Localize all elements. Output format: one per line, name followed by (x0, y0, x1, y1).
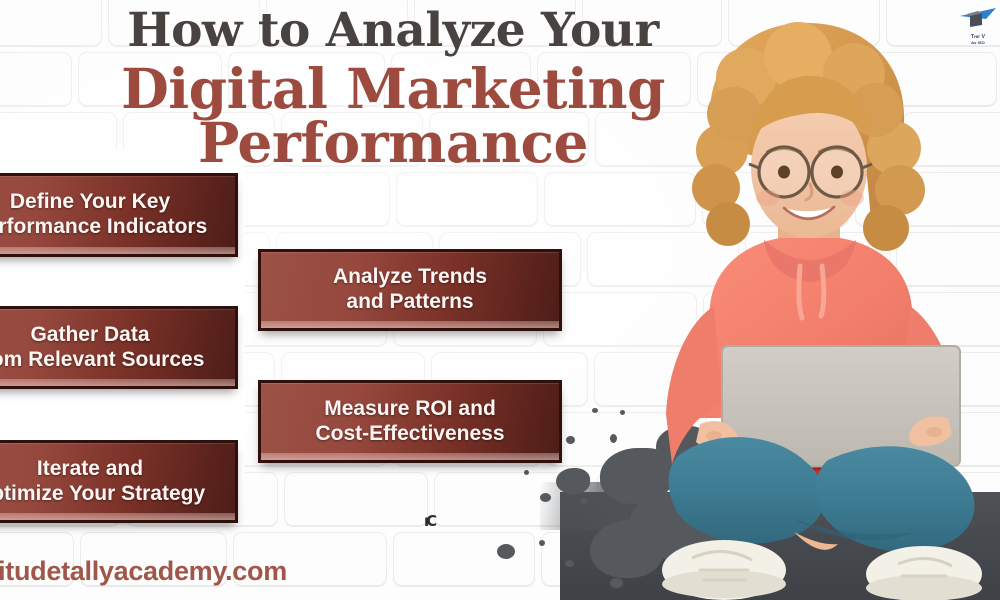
step-box-analyze-trends[interactable]: Analyze Trends and Patterns (258, 249, 562, 331)
step-box-define-kpis[interactable]: Define Your Key Performance Indicators (0, 173, 238, 257)
step-label: Analyze Trends and Patterns (333, 265, 487, 314)
page-title: How to Analyze Your Digital Marketing Pe… (0, 8, 808, 170)
brand-logo[interactable]: The V An ISO (956, 2, 1000, 50)
logo-text-secondary: An ISO (956, 40, 1000, 45)
logo-mark-icon (956, 2, 1000, 28)
step-label: Iterate and Optimize Your Strategy (0, 457, 205, 506)
step-label: Define Your Key Performance Indicators (0, 190, 207, 239)
headline-line-2: Digital Marketing Performance (0, 62, 808, 170)
step-box-measure-roi[interactable]: Measure ROI and Cost-Effectiveness (258, 380, 562, 463)
step-box-iterate-optimize[interactable]: Iterate and Optimize Your Strategy (0, 440, 238, 523)
step-box-gather-data[interactable]: Gather Data from Relevant Sources (0, 306, 238, 389)
step-label: Measure ROI and Cost-Effectiveness (315, 397, 504, 446)
watermark-glyph: ıC (424, 512, 434, 530)
step-label: Gather Data from Relevant Sources (0, 323, 204, 372)
poster-canvas: ıC (0, 0, 1000, 600)
headline-line-1: How to Analyze Your (0, 8, 808, 54)
website-url[interactable]: attitudetallyacademy.com (0, 556, 287, 587)
